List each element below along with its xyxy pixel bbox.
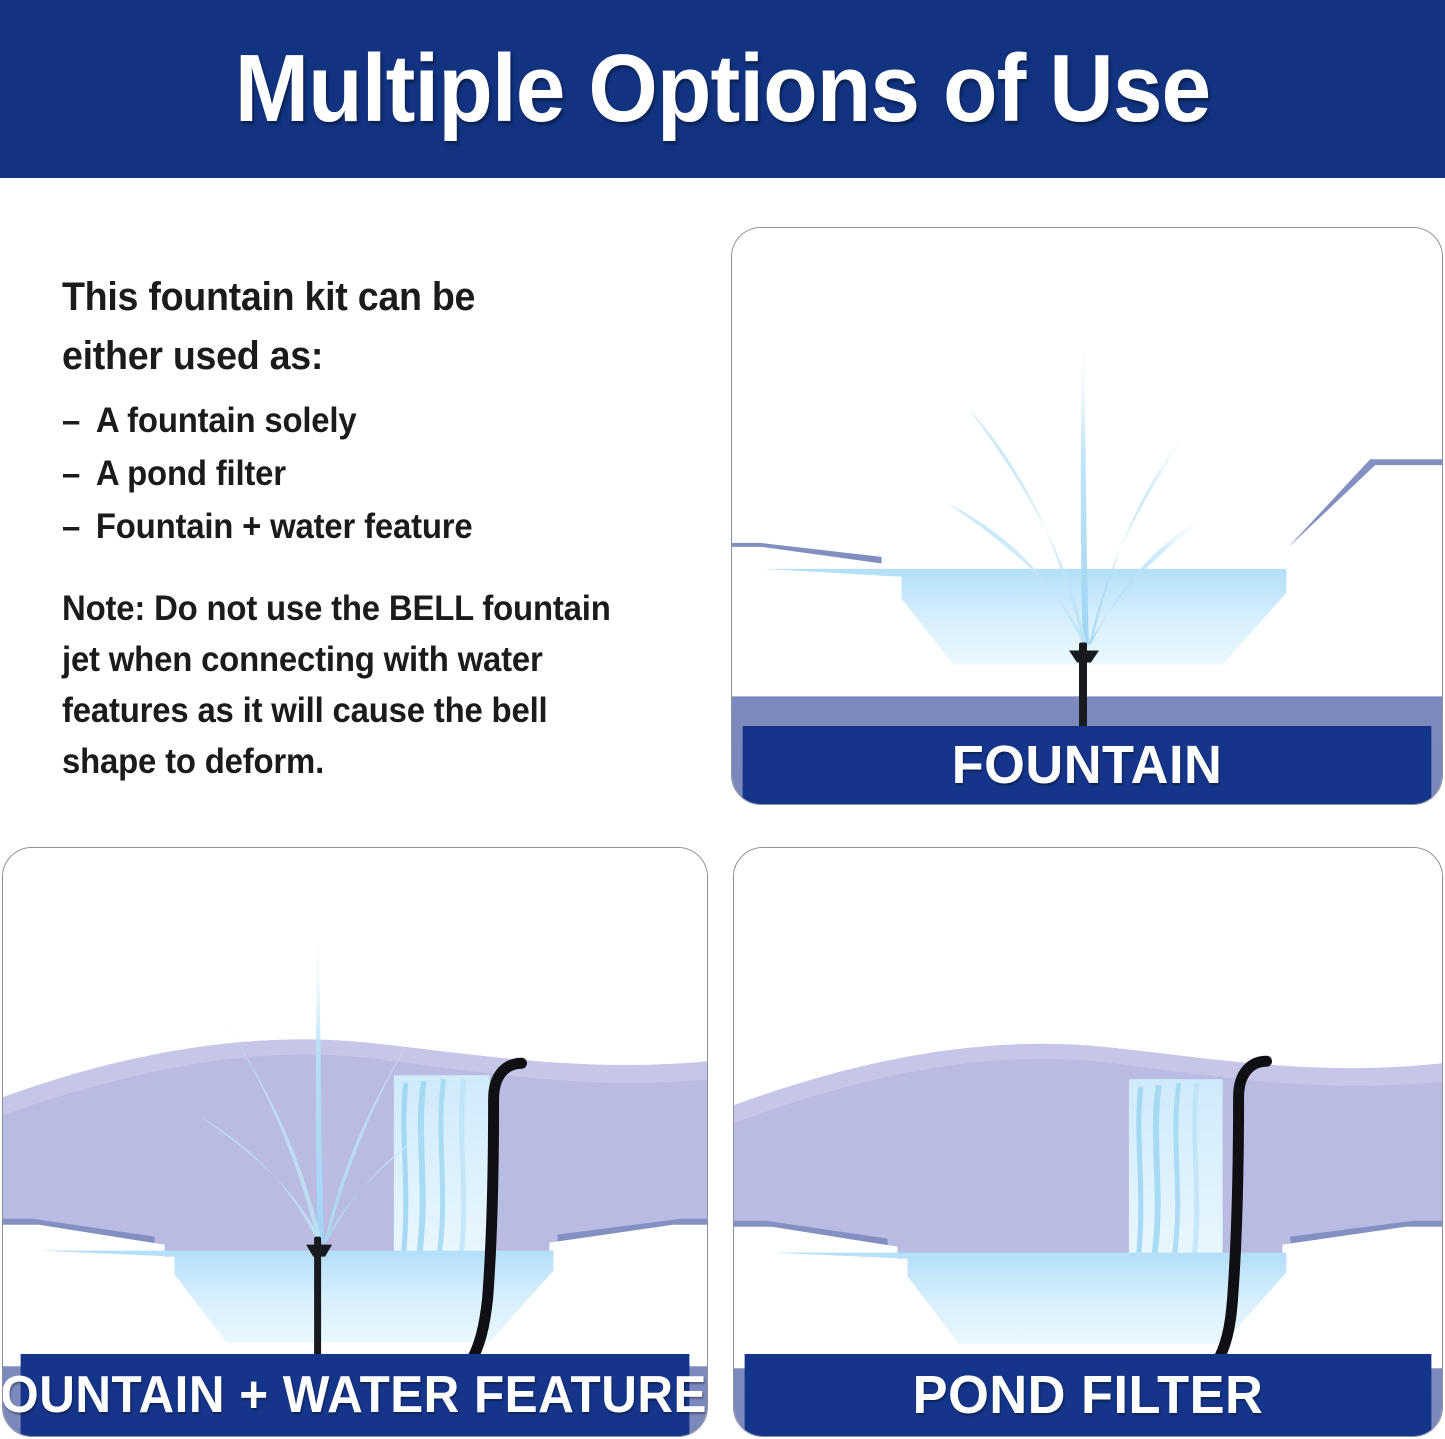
intro-text-block: This fountain kit can be either used as:… xyxy=(62,268,682,787)
bullet-dash-icon: – xyxy=(62,449,81,500)
pond-filter-illustration xyxy=(734,848,1442,1436)
waterfall xyxy=(1129,1079,1223,1258)
waterfall xyxy=(394,1075,490,1256)
use-case-list: – A fountain solely – A pond filter – Fo… xyxy=(62,396,682,552)
list-item: – Fountain + water feature xyxy=(62,502,645,553)
intro-lead: This fountain kit can be either used as: xyxy=(62,268,645,386)
panel-label-fountain: FOUNTAIN xyxy=(743,726,1432,804)
list-item-label: A pond filter xyxy=(96,449,286,500)
intro-lead-line1: This fountain kit can be xyxy=(62,275,475,319)
list-item-label: A fountain solely xyxy=(96,396,357,447)
header-banner: Multiple Options of Use xyxy=(0,0,1445,178)
scene-fountain-water-features xyxy=(3,848,707,1436)
panel-label-fountain-water-features: FOUNTAIN + WATER FEATURES xyxy=(21,1354,690,1436)
bullet-dash-icon: – xyxy=(62,502,81,553)
panel-fountain-water-features: FOUNTAIN + WATER FEATURES xyxy=(2,847,708,1437)
bullet-dash-icon: – xyxy=(62,396,81,447)
hill-front xyxy=(734,1059,1442,1259)
note-text: Note: Do not use the BELL fountain jet w… xyxy=(62,583,626,787)
scene-fountain xyxy=(732,228,1442,804)
fountain-water-features-illustration xyxy=(3,848,707,1436)
list-item-label: Fountain + water feature xyxy=(96,502,473,553)
fountain-illustration xyxy=(732,228,1442,804)
panel-fountain: FOUNTAIN xyxy=(731,227,1443,805)
panel-label-pond-filter: POND FILTER xyxy=(745,1354,1432,1436)
list-item: – A pond filter xyxy=(62,449,645,500)
intro-lead-line2: either used as: xyxy=(62,334,323,378)
panel-pond-filter: POND FILTER xyxy=(733,847,1443,1437)
hill-front xyxy=(3,1055,707,1257)
page-title: Multiple Options of Use xyxy=(235,34,1211,144)
list-item: – A fountain solely xyxy=(62,396,645,447)
infographic-page: Multiple Options of Use This fountain ki… xyxy=(0,0,1445,1439)
scene-pond-filter xyxy=(734,848,1442,1436)
